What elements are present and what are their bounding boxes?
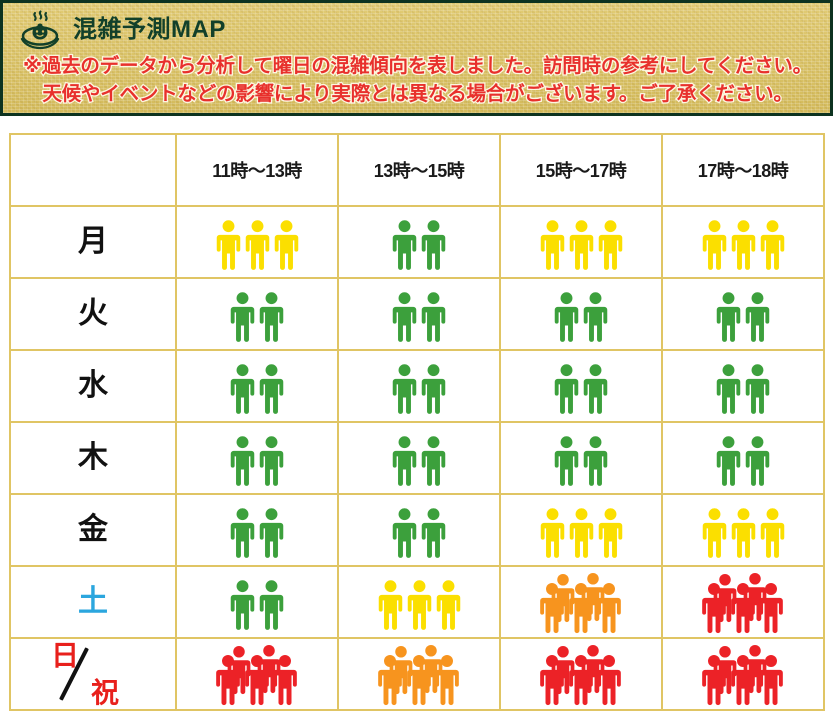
person-icon [728, 219, 759, 271]
person-icon [404, 579, 435, 631]
person-icon [713, 291, 744, 343]
person-icon [757, 507, 788, 559]
crowd-cell-2-2 [500, 350, 662, 422]
crowd-cell-2-1 [338, 350, 500, 422]
people-group [663, 501, 823, 559]
crowd-table: 11時〜13時 13時〜15時 15時〜17時 17時〜18時 月火水木金土日祝 [9, 133, 825, 711]
time-slot-header-0: 11時〜13時 [176, 134, 338, 206]
person-icon [375, 579, 406, 631]
time-slot-label: 17時〜18時 [698, 161, 789, 181]
person-wrap [430, 654, 464, 706]
day-label: 金 [78, 513, 108, 546]
crowd-cell-0-1 [338, 206, 500, 278]
person-icon [754, 582, 788, 634]
table-row: 日祝 [10, 638, 824, 710]
day-cell-3: 木 [10, 422, 176, 494]
person-icon [713, 363, 744, 415]
table-row: 木 [10, 422, 824, 494]
time-slot-header-1: 13時〜15時 [338, 134, 500, 206]
crowd-forecast-map: 混雑予測MAP ※過去のデータから分析して曜日の混雑傾向を表しました。訪問時の参… [0, 0, 833, 700]
people-group [339, 501, 499, 559]
crowd-cell-2-0 [176, 350, 338, 422]
time-slot-label: 15時〜17時 [536, 161, 627, 181]
person-icon [227, 579, 258, 631]
person-icon [256, 291, 287, 343]
person-icon [566, 507, 597, 559]
person-icon [227, 291, 258, 343]
day-cell-6: 日祝 [10, 638, 176, 710]
crowd-cell-5-1 [338, 566, 500, 638]
people-group [501, 501, 661, 559]
banner-note: ※過去のデータから分析して曜日の混雑傾向を表しました。訪問時の参考にしてください… [3, 51, 830, 108]
person-icon [389, 363, 420, 415]
crowd-cell-5-3 [662, 566, 824, 638]
person-icon [551, 435, 582, 487]
person-icon [430, 654, 464, 706]
person-wrap [754, 582, 788, 634]
crowd-cell-1-2 [500, 278, 662, 350]
day-label: 木 [78, 441, 108, 474]
person-icon [418, 363, 449, 415]
people-group [501, 285, 661, 343]
crowd-cell-5-0 [176, 566, 338, 638]
person-icon [742, 291, 773, 343]
crowd-cell-2-3 [662, 350, 824, 422]
header-row: 11時〜13時 13時〜15時 15時〜17時 17時〜18時 [10, 134, 824, 206]
people-group [501, 213, 661, 271]
table-body: 月火水木金土日祝 [10, 206, 824, 710]
people-group [663, 285, 823, 343]
crowd-cell-3-3 [662, 422, 824, 494]
people-group [663, 357, 823, 415]
table-row: 土 [10, 566, 824, 638]
person-icon [227, 363, 258, 415]
day-cell-4: 金 [10, 494, 176, 566]
table-row: 水 [10, 350, 824, 422]
people-group [177, 429, 337, 487]
people-crowd-group [535, 573, 627, 631]
people-crowd-group [211, 645, 303, 703]
person-icon [389, 291, 420, 343]
person-icon [728, 507, 759, 559]
day-cell-2: 水 [10, 350, 176, 422]
person-icon [242, 219, 273, 271]
crowd-cell-6-2 [500, 638, 662, 710]
person-icon [227, 435, 258, 487]
table-corner-cell [10, 134, 176, 206]
person-icon [256, 435, 287, 487]
crowd-cell-1-3 [662, 278, 824, 350]
crowd-cell-4-3 [662, 494, 824, 566]
person-icon [595, 507, 626, 559]
people-group [663, 213, 823, 271]
people-crowd-group [697, 645, 789, 703]
person-icon [389, 435, 420, 487]
person-icon [566, 219, 597, 271]
people-group [177, 573, 337, 631]
person-icon [418, 291, 449, 343]
crowd-cell-6-1 [338, 638, 500, 710]
onsen-hotspring-icon [17, 10, 63, 50]
crowd-cell-4-1 [338, 494, 500, 566]
person-icon [418, 219, 449, 271]
person-icon [551, 363, 582, 415]
header-banner: 混雑予測MAP ※過去のデータから分析して曜日の混雑傾向を表しました。訪問時の参… [0, 0, 833, 116]
person-icon [256, 579, 287, 631]
people-group [177, 213, 337, 271]
person-icon [580, 291, 611, 343]
person-icon [227, 507, 258, 559]
person-icon [742, 435, 773, 487]
banner-note-line1: ※過去のデータから分析して曜日の混雑傾向を表しました。訪問時の参考にしてください… [11, 53, 824, 81]
people-group [501, 357, 661, 415]
people-crowd-group [697, 573, 789, 631]
people-group [177, 357, 337, 415]
people-group [177, 501, 337, 559]
day-label: 水 [78, 369, 108, 402]
people-group [339, 213, 499, 271]
person-icon [433, 579, 464, 631]
person-icon [389, 219, 420, 271]
person-icon [268, 654, 302, 706]
crowd-cell-3-1 [338, 422, 500, 494]
crowd-cell-0-0 [176, 206, 338, 278]
people-group [177, 285, 337, 343]
day-label: 火 [78, 297, 108, 330]
day-cell-1: 火 [10, 278, 176, 350]
person-icon [592, 654, 626, 706]
banner-note-line2: 天候やイベントなどの影響により実際とは異なる場合がございます。ご了承ください。 [11, 81, 824, 109]
people-group [663, 429, 823, 487]
person-icon [271, 219, 302, 271]
people-crowd-group [373, 645, 465, 703]
person-icon [592, 582, 626, 634]
crowd-cell-1-1 [338, 278, 500, 350]
table-row: 火 [10, 278, 824, 350]
people-group [339, 285, 499, 343]
time-slot-label: 13時〜15時 [374, 161, 465, 181]
person-icon [699, 507, 730, 559]
people-group [501, 429, 661, 487]
person-icon [213, 219, 244, 271]
crowd-cell-6-0 [176, 638, 338, 710]
person-icon [754, 654, 788, 706]
day-cell-0: 月 [10, 206, 176, 278]
person-icon [713, 435, 744, 487]
person-icon [389, 507, 420, 559]
crowd-cell-4-2 [500, 494, 662, 566]
day-label-sunday-holiday: 日祝 [45, 643, 141, 705]
person-icon [551, 291, 582, 343]
person-icon [418, 435, 449, 487]
person-wrap [592, 582, 626, 634]
person-icon [256, 507, 287, 559]
people-group [339, 429, 499, 487]
time-slot-header-3: 17時〜18時 [662, 134, 824, 206]
day-label-holiday: 祝 [91, 679, 119, 707]
person-wrap [754, 654, 788, 706]
crowd-cell-0-3 [662, 206, 824, 278]
crowd-cell-3-2 [500, 422, 662, 494]
table-row: 月 [10, 206, 824, 278]
person-icon [580, 435, 611, 487]
crowd-cell-0-2 [500, 206, 662, 278]
crowd-cell-4-0 [176, 494, 338, 566]
banner-title: 混雑予測MAP [73, 18, 226, 42]
crowd-cell-5-2 [500, 566, 662, 638]
people-crowd-group [535, 645, 627, 703]
person-icon [537, 219, 568, 271]
day-cell-5: 土 [10, 566, 176, 638]
people-group [339, 357, 499, 415]
person-icon [256, 363, 287, 415]
person-wrap [592, 654, 626, 706]
person-icon [580, 363, 611, 415]
person-icon [537, 507, 568, 559]
crowd-cell-1-0 [176, 278, 338, 350]
person-icon [757, 219, 788, 271]
table-header: 11時〜13時 13時〜15時 15時〜17時 17時〜18時 [10, 134, 824, 206]
time-slot-header-2: 15時〜17時 [500, 134, 662, 206]
table-row: 金 [10, 494, 824, 566]
people-group [339, 573, 499, 631]
day-label: 土 [78, 585, 108, 618]
person-wrap [268, 654, 302, 706]
time-slot-label: 11時〜13時 [212, 161, 302, 181]
person-icon [595, 219, 626, 271]
crowd-cell-3-0 [176, 422, 338, 494]
crowd-cell-6-3 [662, 638, 824, 710]
crowd-table-wrapper: 11時〜13時 13時〜15時 15時〜17時 17時〜18時 月火水木金土日祝 [9, 133, 824, 700]
person-icon [742, 363, 773, 415]
person-icon [699, 219, 730, 271]
day-label: 月 [78, 225, 108, 258]
banner-title-row: 混雑予測MAP [3, 3, 830, 51]
person-icon [418, 507, 449, 559]
